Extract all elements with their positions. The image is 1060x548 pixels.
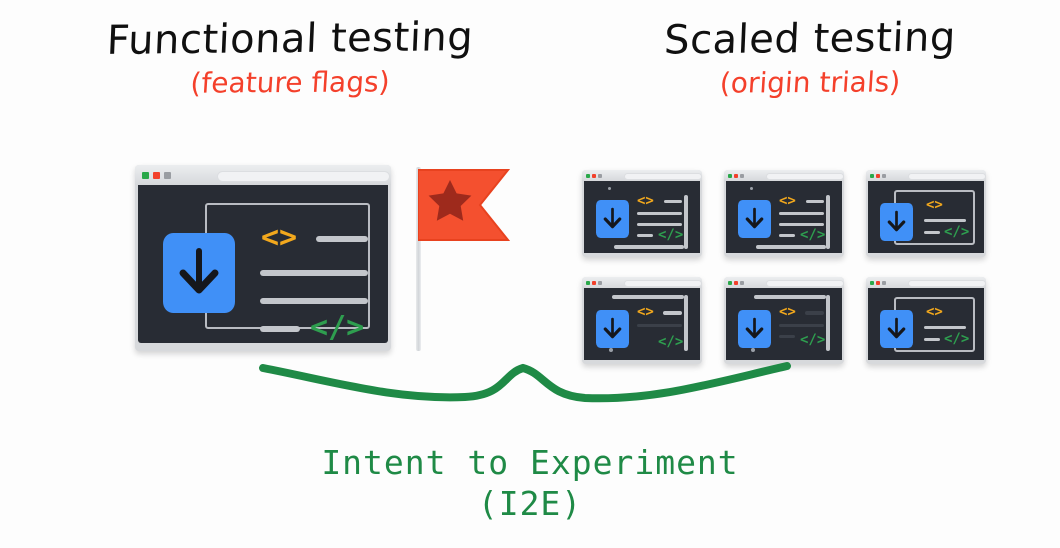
traffic-light-gray-icon (882, 174, 886, 178)
content-bar (260, 326, 300, 332)
content-bar (664, 200, 682, 203)
traffic-light-red-icon (592, 281, 596, 285)
browser-window-large: <> </> (135, 165, 391, 351)
feature-flag-icon (418, 168, 510, 246)
code-open-tag-icon: <> (637, 305, 654, 319)
window-content: <> </> (138, 185, 388, 343)
traffic-light-green-icon (142, 172, 149, 179)
traffic-light-gray-icon (598, 174, 602, 178)
window-titlebar (866, 170, 986, 181)
content-bar (684, 195, 688, 249)
window-titlebar (135, 165, 391, 185)
window-content: <> </> (868, 288, 984, 360)
browser-window-small: <> </> (724, 170, 844, 257)
traffic-light-green-icon (728, 281, 732, 285)
heading-left-subtitle: (feature flags) (59, 66, 521, 100)
content-bar (614, 245, 684, 249)
traffic-light-red-icon (592, 174, 596, 178)
address-bar[interactable] (908, 173, 986, 180)
window-content: <> </> (868, 181, 984, 253)
content-bar (779, 223, 824, 226)
content-bar (924, 219, 966, 222)
content-bar (826, 295, 830, 351)
traffic-light-gray-icon (882, 281, 886, 285)
traffic-light-green-icon (728, 174, 732, 178)
browser-window-small: <> </> (866, 277, 986, 364)
content-bar (779, 324, 824, 327)
content-bar (756, 245, 826, 249)
content-bar (637, 223, 682, 226)
traffic-light-red-icon (876, 281, 880, 285)
traffic-light-green-icon (586, 281, 590, 285)
address-bar[interactable] (624, 280, 702, 287)
code-close-tag-icon: </> (658, 335, 683, 349)
traffic-light-green-icon (870, 281, 874, 285)
window-titlebar (724, 170, 844, 181)
content-bar (779, 212, 824, 215)
window-content: <> </> (726, 288, 842, 360)
address-bar[interactable] (217, 171, 390, 182)
window-titlebar (582, 277, 702, 288)
browser-window-small: <> </> (582, 277, 702, 364)
window-titlebar (866, 277, 986, 288)
diagram-canvas: Functional testing (feature flags) Scale… (0, 0, 1060, 548)
heading-left-title: Functional testing (59, 16, 521, 63)
traffic-light-green-icon (586, 174, 590, 178)
traffic-light-red-icon (153, 172, 160, 179)
content-bar (924, 338, 940, 341)
browser-window-small: <> </> (724, 277, 844, 364)
traffic-light-red-icon (876, 174, 880, 178)
download-arrow-icon (880, 203, 913, 241)
content-bar (779, 335, 795, 338)
content-bar (779, 234, 795, 237)
content-bar (684, 295, 688, 351)
download-arrow-icon (738, 200, 771, 238)
download-arrow-icon (596, 200, 629, 238)
heading-scaled-testing: Scaled testing (origin trials) (610, 18, 1010, 99)
content-bar (260, 270, 368, 276)
content-bar (826, 195, 830, 249)
download-arrow-icon (738, 310, 771, 348)
code-close-tag-icon: </> (944, 225, 969, 239)
traffic-light-gray-icon (598, 281, 602, 285)
content-bar (924, 326, 966, 329)
traffic-light-red-icon (734, 281, 738, 285)
code-close-tag-icon: </> (800, 333, 825, 347)
connector-caption: Intent to Experiment (I2E) (0, 442, 1060, 525)
content-bar (805, 311, 824, 315)
code-open-tag-icon: <> (926, 305, 943, 319)
download-arrow-icon (596, 310, 629, 348)
code-open-tag-icon: <> (779, 194, 796, 208)
caption-line-1: Intent to Experiment (321, 443, 738, 482)
traffic-light-green-icon (870, 174, 874, 178)
code-close-tag-icon: </> (944, 332, 969, 346)
code-open-tag-icon: <> (779, 305, 796, 319)
content-bar (316, 236, 368, 242)
traffic-light-red-icon (734, 174, 738, 178)
feature-flag-group (408, 163, 508, 353)
content-bar (663, 311, 682, 315)
window-titlebar (582, 170, 702, 181)
address-bar[interactable] (624, 173, 702, 180)
code-close-tag-icon: </> (658, 228, 683, 242)
caption-line-2: (I2E) (0, 483, 1060, 524)
heading-functional-testing: Functional testing (feature flags) (60, 18, 520, 99)
browser-window-small: <> </> (866, 170, 986, 257)
window-titlebar (724, 277, 844, 288)
content-bar (637, 212, 682, 215)
heading-right-subtitle: (origin trials) (609, 67, 1011, 101)
content-bar (637, 324, 682, 327)
content-bar (924, 231, 940, 234)
connector-curve (255, 352, 795, 412)
code-open-tag-icon: <> (926, 198, 943, 212)
window-content: <> </> (584, 181, 700, 253)
heading-right-title: Scaled testing (609, 16, 1011, 62)
code-close-tag-icon: </> (310, 313, 364, 343)
address-bar[interactable] (766, 173, 844, 180)
traffic-light-gray-icon (740, 174, 744, 178)
window-content: <> </> (584, 288, 700, 360)
content-bar (637, 234, 653, 237)
address-bar[interactable] (908, 280, 986, 287)
content-bar (612, 295, 684, 299)
content-bar (754, 295, 826, 299)
traffic-light-gray-icon (164, 172, 171, 179)
address-bar[interactable] (766, 280, 844, 287)
download-arrow-icon (880, 310, 913, 348)
content-pin-icon (608, 187, 611, 190)
window-content: <> </> (726, 181, 842, 253)
traffic-light-gray-icon (740, 281, 744, 285)
browser-window-small: <> </> (582, 170, 702, 257)
content-bar (260, 298, 368, 304)
content-bar (806, 200, 824, 203)
code-open-tag-icon: <> (637, 194, 654, 208)
content-pin-icon (750, 187, 753, 190)
download-arrow-icon (163, 233, 235, 313)
code-open-tag-icon: <> (261, 223, 297, 253)
code-close-tag-icon: </> (800, 228, 825, 242)
